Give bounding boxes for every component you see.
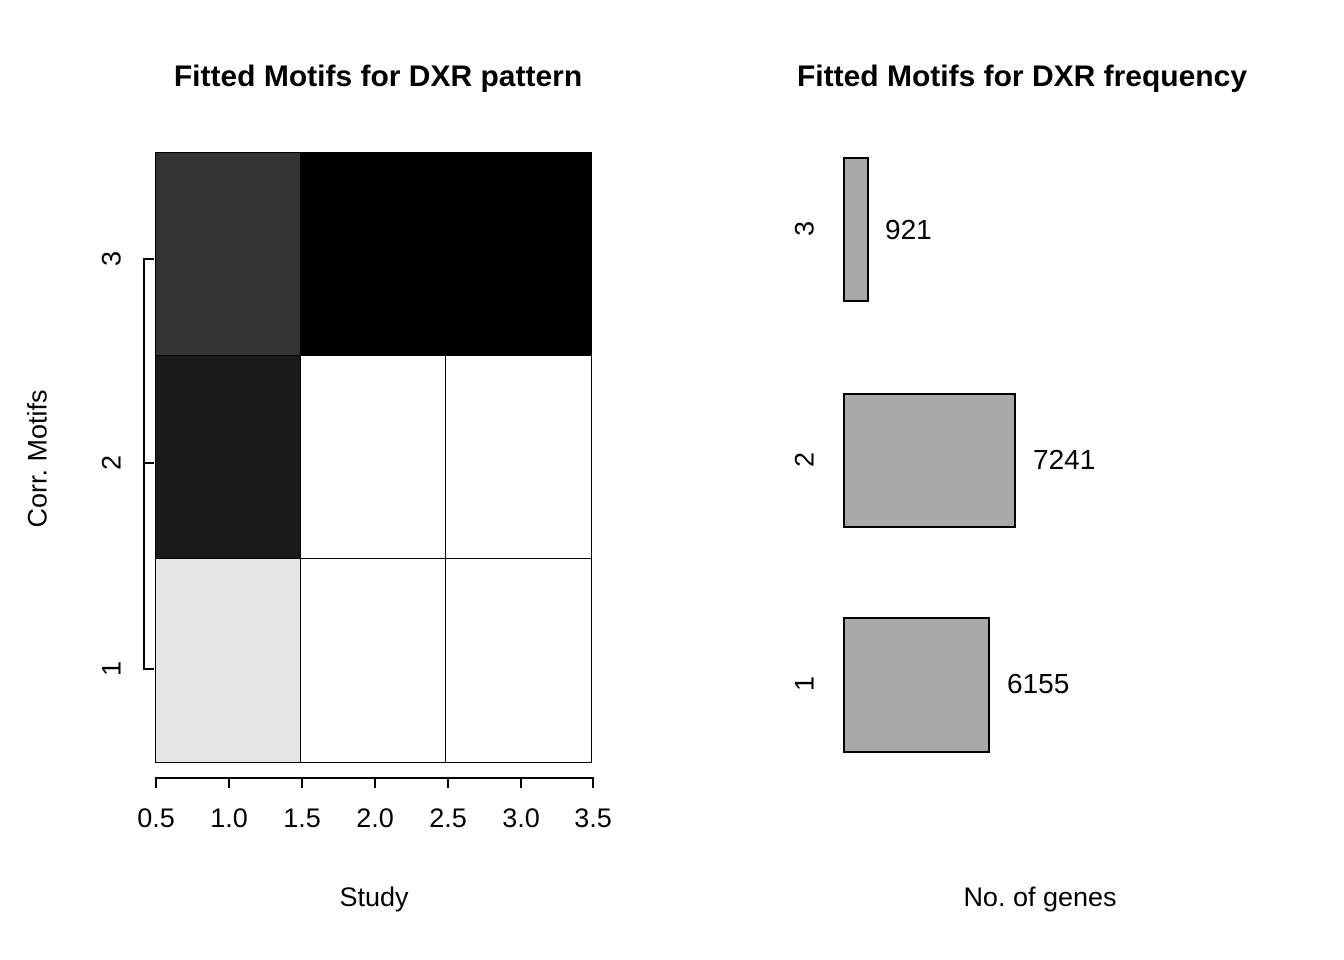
x-tick-label-3: 2.0 — [335, 803, 415, 834]
x-tick-5 — [520, 777, 522, 788]
panel-barchart: Fitted Motifs for DXR frequency 921 3 72… — [700, 0, 1344, 960]
bar-category-label-2: 2 — [790, 440, 821, 480]
bar-motif-3 — [843, 157, 869, 302]
bar-value-motif-3: 921 — [885, 214, 932, 246]
bar-value-motif-1: 6155 — [1007, 668, 1069, 700]
y-axis-title: Corr. Motifs — [23, 359, 54, 559]
figure-canvas: Fitted Motifs for DXR pattern 3 2 1 — [0, 0, 1344, 960]
heat-cell-r2-c2 — [301, 356, 446, 559]
heat-cell-r1-c2 — [301, 559, 446, 762]
y-axis-line — [143, 258, 145, 669]
bar-category-label-3: 3 — [790, 209, 821, 249]
x-tick-6 — [592, 777, 594, 788]
heat-cell-r1-c3 — [446, 559, 591, 762]
y-tick-label-1: 1 — [97, 649, 128, 689]
heat-cell-r3-c2 — [301, 153, 446, 356]
bar-motif-2 — [843, 393, 1016, 528]
bar-motif-1 — [843, 617, 990, 753]
right-x-axis-title: No. of genes — [920, 882, 1160, 913]
x-tick-label-5: 3.0 — [481, 803, 561, 834]
y-tick-label-2: 2 — [97, 443, 128, 483]
y-tick-2 — [143, 462, 154, 464]
y-tick-3 — [143, 258, 154, 260]
heat-cell-r2-c3 — [446, 356, 591, 559]
y-tick-1 — [143, 668, 154, 670]
bar-value-motif-2: 7241 — [1033, 444, 1095, 476]
left-panel-title: Fitted Motifs for DXR pattern — [0, 60, 756, 94]
heat-cell-r1-c1 — [156, 559, 301, 762]
x-tick-label-4: 2.5 — [408, 803, 488, 834]
x-tick-1 — [228, 777, 230, 788]
panel-heatmap: Fitted Motifs for DXR pattern 3 2 1 — [0, 0, 700, 960]
x-tick-label-1: 1.0 — [189, 803, 269, 834]
heat-cell-r3-c1 — [156, 153, 301, 356]
x-tick-0 — [155, 777, 157, 788]
heatmap-grid — [155, 152, 592, 763]
heat-cell-r3-c3 — [446, 153, 591, 356]
x-tick-4 — [447, 777, 449, 788]
x-tick-3 — [374, 777, 376, 788]
x-tick-label-6: 3.5 — [553, 803, 633, 834]
x-tick-label-0: 0.5 — [116, 803, 196, 834]
y-tick-label-3: 3 — [97, 239, 128, 279]
bar-category-label-1: 1 — [790, 664, 821, 704]
x-axis-title: Study — [274, 882, 474, 913]
x-tick-2 — [301, 777, 303, 788]
x-tick-label-2: 1.5 — [262, 803, 342, 834]
right-panel-title: Fitted Motifs for DXR frequency — [700, 60, 1344, 94]
heat-cell-r2-c1 — [156, 356, 301, 559]
